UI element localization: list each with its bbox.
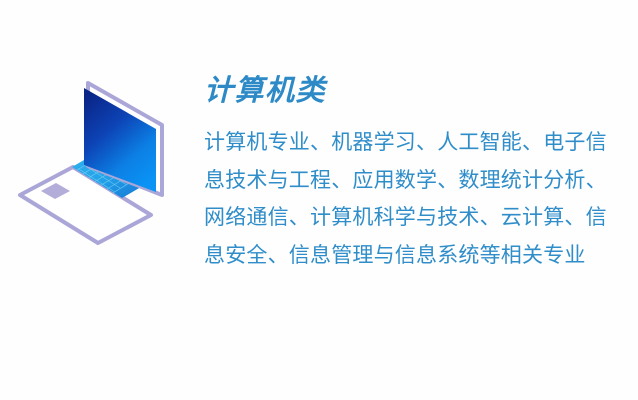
laptop-illustration-svg (10, 55, 190, 245)
description-line-1: 计算机专业、机器学习、人工智能、电子信 (204, 124, 624, 162)
laptop-illustration (10, 55, 190, 245)
promo-card: 计算机类 计算机专业、机器学习、人工智能、电子信 息技术与工程、应用数学、数理统… (0, 0, 638, 400)
description-list: 计算机专业、机器学习、人工智能、电子信 息技术与工程、应用数学、数理统计分析、 … (204, 124, 624, 274)
text-block: 计算机类 计算机专业、机器学习、人工智能、电子信 息技术与工程、应用数学、数理统… (204, 72, 624, 274)
page-title: 计算机类 (204, 72, 624, 110)
description-line-3: 网络通信、计算机科学与技术、云计算、信 (204, 199, 624, 237)
description-line-2: 息技术与工程、应用数学、数理统计分析、 (204, 162, 624, 200)
description-line-4: 息安全、信息管理与信息系统等相关专业 (204, 237, 624, 275)
